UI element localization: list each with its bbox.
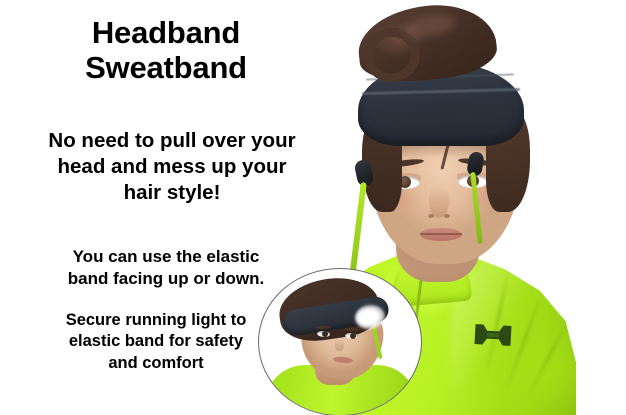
callout-elastic-band: You can use the elastic band facing up o… [34,246,298,290]
product-infographic: Headband Sweatband No need to pull over … [0,0,626,415]
callout-running-light: Secure running light to elastic band for… [34,310,278,374]
inset-iris [322,331,328,337]
inset-photo-running-light [258,268,422,415]
inset-iris [350,333,356,339]
page-title: Headband Sweatband [30,16,302,85]
under-armour-logo [469,321,516,349]
callout-benefit: No need to pull over your head and mess … [36,128,308,205]
earbud-cord [349,182,367,278]
inset-nose [335,337,344,351]
nostril [428,214,434,218]
lip-line [420,233,462,235]
nostril [444,214,450,218]
